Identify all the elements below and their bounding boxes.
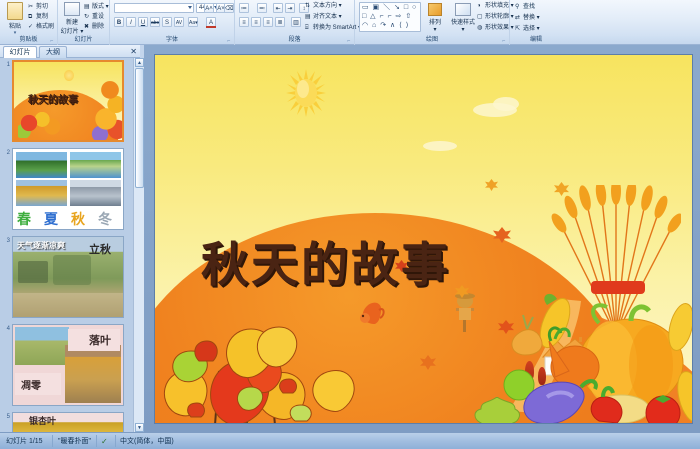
quick-styles-icon: [455, 3, 471, 16]
format-painter-button[interactable]: ✓格式刷: [28, 23, 54, 32]
slide-number: 1: [1, 62, 10, 68]
text-shadow-button[interactable]: S: [162, 17, 172, 27]
slide-counter: 幻灯片 1/15: [6, 437, 43, 446]
slide-thumb-subtitle-4: 凋零: [21, 377, 41, 392]
layout-icon: ▤: [84, 3, 92, 12]
status-bar: 幻灯片 1/15 "暖春扑面" ✓ 中文(简体，中国): [0, 432, 700, 449]
paste-icon: [7, 2, 23, 20]
season-char-winter: 冬: [98, 209, 112, 229]
slide-thumb-row-3[interactable]: 3 天气逐渐凉爽 立秋: [0, 236, 133, 322]
slide-number: 5: [1, 414, 10, 420]
scarecrow-icon: [452, 290, 478, 332]
grow-font-button[interactable]: A˄: [204, 3, 214, 13]
slide-thumb-row-1[interactable]: 1 秋天的故事: [0, 60, 133, 146]
layout-button[interactable]: ▤版式 ▾: [84, 3, 109, 12]
ribbon-group-font: 44 A˄ A˅ ⌫ B I U abc S AV Aa▾ A 字体 ⌐: [110, 0, 235, 45]
drawing-group-label: 绘图: [355, 35, 509, 45]
new-slide-button[interactable]: 新建 幻灯片 ▾: [60, 2, 84, 35]
justify-button[interactable]: ≣: [275, 17, 285, 27]
season-char-autumn: 秋: [71, 209, 85, 229]
replace-icon: ⇄: [515, 14, 523, 23]
sun-icon: [64, 70, 74, 81]
change-case-button[interactable]: Aa▾: [188, 17, 198, 27]
season-char-spring: 春: [17, 209, 31, 229]
copy-button[interactable]: ⧉复制: [28, 13, 48, 22]
spellcheck-icon[interactable]: ✓: [101, 437, 108, 446]
underline-button[interactable]: U: [138, 17, 148, 27]
slide-thumb-row-5[interactable]: 5 银杏叶: [0, 412, 133, 432]
slide-thumbnail-1[interactable]: 秋天的故事: [12, 60, 124, 142]
onion: [512, 315, 542, 355]
replace-button[interactable]: ⇄替换 ▾: [515, 14, 540, 23]
slide-number: 2: [1, 150, 10, 156]
clipboard-dialog-launcher[interactable]: ⌐: [49, 38, 55, 44]
slide-editing-stage: 秋天的故事: [144, 45, 700, 432]
increase-indent-button[interactable]: ⇥: [285, 3, 295, 13]
bold-button[interactable]: B: [114, 17, 124, 27]
align-right-button[interactable]: ≡: [263, 17, 273, 27]
shape-effects-icon: ◍: [477, 24, 485, 33]
autumn-leaves-cluster: [155, 313, 405, 423]
slide-thumb-title-1: 秋天的故事: [28, 91, 78, 106]
align-left-button[interactable]: ≡: [239, 17, 249, 27]
slide-thumbnail-panel[interactable]: 1 秋天的故事 2 春 夏 秋 冬: [0, 58, 133, 432]
align-text-button[interactable]: ▤对齐文本 ▾: [305, 13, 342, 22]
slide-thumbnail-5[interactable]: 银杏叶: [12, 412, 124, 432]
slide-thumbnail-3[interactable]: 天气逐渐凉爽 立秋: [12, 236, 124, 318]
status-divider: [96, 435, 97, 447]
delete-slide-button[interactable]: ✖删除: [84, 23, 104, 32]
status-divider: [115, 435, 116, 447]
slide-thumb-row-2[interactable]: 2 春 夏 秋 冬: [0, 148, 133, 234]
new-slide-icon: [64, 2, 80, 16]
shape-fill-icon: ◑: [477, 2, 485, 11]
decrease-indent-button[interactable]: ⇤: [273, 3, 283, 13]
font-name-combo[interactable]: [114, 3, 194, 13]
ribbon-group-editing: ⚲查找 ⇄替换 ▾ ⇱选择 ▾ 编辑: [510, 0, 568, 45]
tab-outline[interactable]: 大纲: [39, 46, 67, 58]
convert-to-smartart-button[interactable]: ⌸转换为 SmartArt ▾: [305, 24, 361, 33]
delete-icon: ✖: [84, 23, 92, 32]
font-dialog-launcher[interactable]: ⌐: [226, 38, 232, 44]
editing-group-label: 编辑: [512, 35, 560, 45]
copy-icon: ⧉: [28, 13, 36, 22]
smartart-icon: ⌸: [305, 24, 313, 33]
language-indicator[interactable]: 中文(简体，中国): [120, 437, 174, 446]
slide-panel-scrollbar[interactable]: ▲ ▼: [133, 58, 144, 432]
numbering-button[interactable]: ≕: [257, 3, 267, 13]
eggplant: [524, 381, 596, 423]
slide-number: 4: [1, 326, 10, 332]
paragraph-group-label: 段落: [235, 35, 354, 45]
scissors-icon: ✂: [28, 3, 36, 12]
strikethrough-button[interactable]: abc: [150, 17, 160, 27]
shape-fill-button[interactable]: ◑形状填充 ▾: [477, 2, 514, 11]
font-color-swatch: [206, 26, 216, 28]
font-group-label: 字体: [110, 35, 234, 45]
columns-button[interactable]: ▥: [291, 17, 301, 27]
chevron-down-icon: [188, 6, 192, 9]
slide-thumb-row-4[interactable]: 4 落叶 凋零: [0, 324, 133, 410]
powerpoint-window: 粘贴 ▾ ✂剪切 ⧉复制 ✓格式刷 剪贴板 ⌐ 新建 幻灯片 ▾ ▤版式: [0, 0, 700, 449]
shapes-gallery[interactable]: ▭ ▣ ＼ ↘ □ ○ □ △ ⌐ ⌐ ⇨ ⇧ ◠ ⌂ ↷ ∧ ⟨ ⟩: [359, 2, 421, 32]
shapes-row-1: ▭ ▣ ＼ ↘ □ ○: [362, 3, 420, 12]
sun-icon: [286, 69, 326, 117]
slide-number: 3: [1, 238, 10, 244]
theme-name: "暖春扑面": [58, 437, 91, 446]
slide-thumb-title-3: 天气逐渐凉爽: [17, 240, 65, 251]
align-text-icon: ▤: [305, 13, 313, 22]
clear-formatting-button[interactable]: ⌫: [224, 3, 234, 13]
arrange-button[interactable]: 排列▾: [423, 3, 447, 33]
ribbon-group-paragraph: ≔ ≕ ⇤ ⇥ ↕ ≡ ≡ ≡ ≣ ▥ ⇅文本方向 ▾ ▤对齐文本 ▾ ⌸转换为…: [235, 0, 355, 45]
text-direction-button[interactable]: ⇅文本方向 ▾: [305, 2, 342, 11]
ribbon-group-drawing: ▭ ▣ ＼ ↘ □ ○ □ △ ⌐ ⌐ ⇨ ⇧ ◠ ⌂ ↷ ∧ ⟨ ⟩ 排列▾ …: [355, 0, 510, 45]
ribbon: 粘贴 ▾ ✂剪切 ⧉复制 ✓格式刷 剪贴板 ⌐ 新建 幻灯片 ▾ ▤版式: [0, 0, 700, 45]
reset-button[interactable]: ↻重设: [84, 13, 104, 22]
paragraph-dialog-launcher[interactable]: ⌐: [346, 38, 352, 44]
find-button[interactable]: ⚲查找: [515, 3, 535, 12]
scroll-up-icon[interactable]: ▲: [135, 58, 144, 67]
reset-icon: ↻: [84, 13, 92, 22]
slide-thumbnail-2[interactable]: 春 夏 秋 冬: [12, 148, 124, 230]
slide-thumb-title-5: 银杏叶: [29, 414, 56, 427]
character-spacing-button[interactable]: AV: [174, 17, 184, 27]
select-icon: ⇱: [515, 25, 523, 34]
season-char-summer: 夏: [44, 209, 58, 229]
cloud-shape: [423, 141, 457, 151]
current-slide[interactable]: 秋天的故事: [155, 55, 692, 423]
slides-group-label: 幻灯片: [58, 35, 109, 45]
scroll-down-icon[interactable]: ▼: [135, 423, 144, 432]
panel-tabstrip: 幻灯片 大纲 ✕: [0, 45, 140, 58]
paste-button[interactable]: 粘贴 ▾: [4, 2, 26, 36]
tab-slides[interactable]: 幻灯片: [3, 46, 37, 58]
bullets-button[interactable]: ≔: [239, 3, 249, 13]
format-painter-icon: ✓: [28, 23, 36, 32]
align-center-button[interactable]: ≡: [251, 17, 261, 27]
shape-effects-button[interactable]: ◍形状效果 ▾: [477, 24, 514, 33]
slide-title-text[interactable]: 秋天的故事: [201, 241, 661, 291]
status-divider: [52, 435, 53, 447]
arrange-icon: [428, 3, 442, 16]
slide-thumb-title-4: 落叶: [89, 332, 111, 348]
close-panel-icon[interactable]: ✕: [130, 48, 137, 56]
shape-outline-button[interactable]: ▢形状轮廓 ▾: [477, 13, 514, 22]
find-icon: ⚲: [515, 3, 523, 12]
slide-thumb-subtitle-3: 立秋: [89, 241, 111, 257]
shapes-row-3: ◠ ⌂ ↷ ∧ ⟨ ⟩: [362, 21, 420, 30]
ribbon-group-clipboard: 粘贴 ▾ ✂剪切 ⧉复制 ✓格式刷 剪贴板 ⌐: [0, 0, 58, 45]
text-direction-icon: ⇅: [305, 2, 313, 11]
italic-button[interactable]: I: [126, 17, 136, 27]
slide-thumbnail-4[interactable]: 落叶 凋零: [12, 324, 124, 406]
cloud-shape: [493, 97, 519, 111]
scrollbar-thumb[interactable]: [135, 68, 144, 188]
select-button[interactable]: ⇱选择 ▾: [515, 25, 540, 34]
drawing-dialog-launcher[interactable]: ⌐: [501, 38, 507, 44]
cut-button[interactable]: ✂剪切: [28, 3, 48, 12]
shape-outline-icon: ▢: [477, 13, 485, 22]
harvest-vegetables: [503, 293, 692, 423]
quick-styles-button[interactable]: 快速样式▾: [448, 3, 478, 33]
ribbon-group-slides: 新建 幻灯片 ▾ ▤版式 ▾ ↻重设 ✖删除 幻灯片: [58, 0, 110, 45]
shapes-row-2: □ △ ⌐ ⌐ ⇨ ⇧: [362, 12, 420, 21]
